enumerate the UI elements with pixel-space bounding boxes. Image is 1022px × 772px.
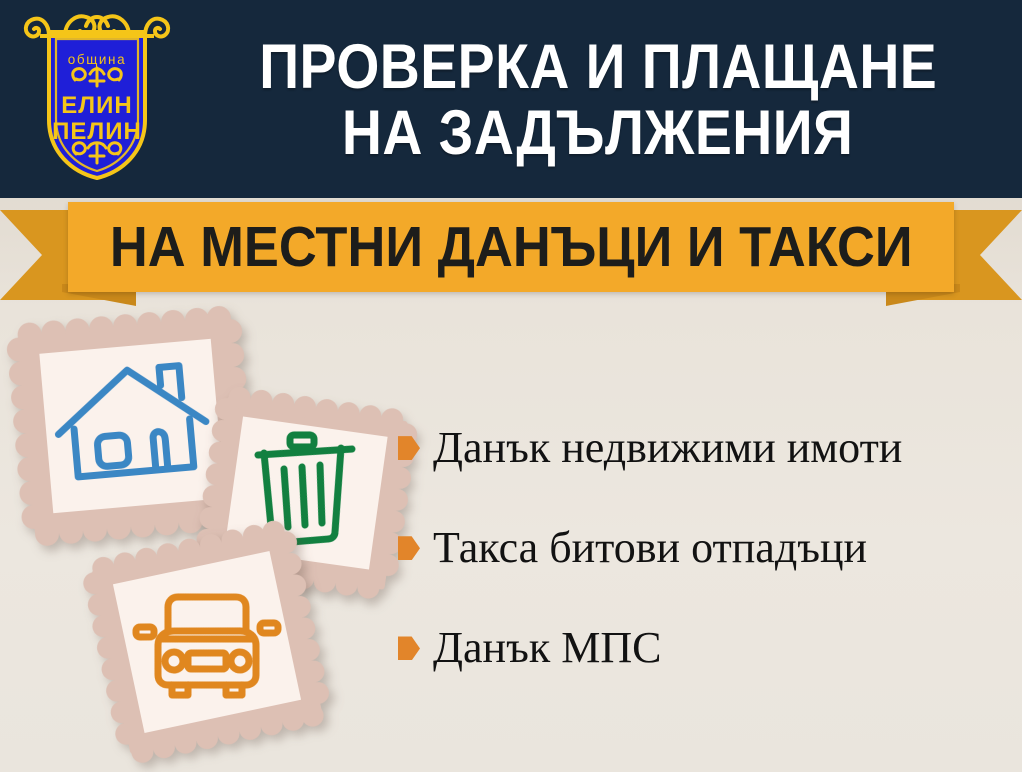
poster-canvas: община ЕЛИН ПЕЛИН [0, 0, 1022, 772]
stamp-vehicle [76, 514, 338, 769]
list-item-label: Данък недвижими имоти [433, 425, 902, 471]
list-item: Данък МПС [398, 625, 1008, 671]
title-line-1: ПРОВЕРКА И ПЛАЩАНЕ [259, 37, 937, 97]
list-item: Данък недвижими имоти [398, 425, 1008, 471]
list-item: Такса битови отпадъци [398, 525, 1008, 571]
title-line-2: НА ЗАДЪЛЖЕНИЯ [342, 103, 853, 163]
list-item-label: Данък МПС [433, 625, 661, 671]
logo-top-label: община [68, 52, 126, 67]
ribbon-label: НА МЕСТНИ ДАНЪЦИ И ТАКСИ [110, 214, 913, 280]
municipality-logo: община ЕЛИН ПЕЛИН [18, 8, 176, 188]
tax-types-list: Данък недвижими имоти Такса битови отпад… [398, 425, 1008, 726]
header-bar: община ЕЛИН ПЕЛИН [0, 0, 1022, 198]
page-title: ПРОВЕРКА И ПЛАЩАНЕ НА ЗАДЪЛЖЕНИЯ [186, 16, 1010, 184]
logo-name-line1: ЕЛИН [61, 92, 132, 119]
ribbon-band: НА МЕСТНИ ДАНЪЦИ И ТАКСИ [68, 202, 954, 292]
list-item-label: Такса битови отпадъци [433, 525, 867, 571]
subtitle-ribbon: НА МЕСТНИ ДАНЪЦИ И ТАКСИ [0, 196, 1022, 311]
arrow-bullet-icon [398, 436, 420, 460]
arrow-bullet-icon [398, 536, 420, 560]
arrow-bullet-icon [398, 636, 420, 660]
logo-name-line2: ПЕЛИН [52, 118, 142, 145]
